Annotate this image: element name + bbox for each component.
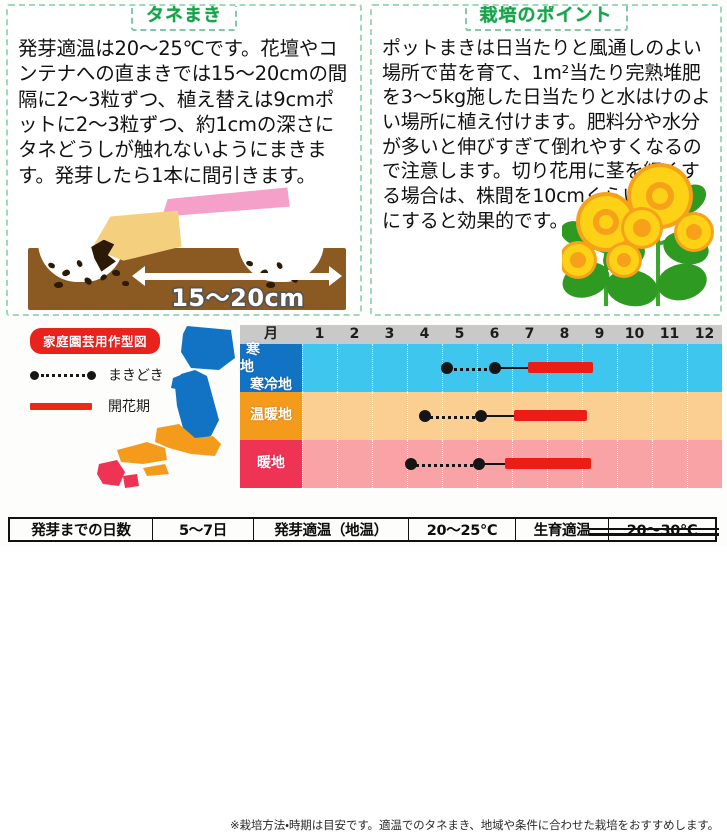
- bloom-period-bar: [505, 458, 591, 469]
- japan-map-illustration: [95, 324, 245, 490]
- spec-header: 発芽までの日数: [10, 519, 153, 540]
- panel-sowing-title: タネまき: [131, 4, 237, 31]
- calendar-header-m12: 12: [687, 325, 722, 344]
- panel-growing-title: 栽培のポイント: [465, 4, 628, 31]
- calendar-row: 温暖地: [240, 392, 722, 440]
- calendar-row-label-line: 温暖地: [250, 407, 292, 425]
- sowing-period-dotted-line: [411, 464, 479, 467]
- calendar-marker-layer: [302, 392, 722, 440]
- calendar-header-m6: 6: [477, 325, 512, 344]
- calendar-marker-layer: [302, 440, 722, 488]
- bloom-period-bar: [514, 410, 588, 421]
- panel-sowing-title-wrap: タネまき: [8, 4, 360, 31]
- panel-growing-tips: 栽培のポイント ポットまきは日当たりと風通しのよい場所で苗を育て、1m²当たり完…: [370, 4, 722, 316]
- cultivation-calendar-area: 家庭園芸用作型図 まきどき 開花期: [0, 322, 727, 492]
- calendar-header-m11: 11: [652, 325, 687, 344]
- spec-value: 5〜7日: [153, 519, 254, 540]
- panel-sowing: タネまき 発芽適温は20〜25℃です。花壇やコンテナへの直まきでは15〜20cm…: [6, 4, 362, 316]
- sowing-end-dot: [475, 410, 487, 422]
- decorative-rule: [589, 528, 719, 536]
- calendar-header-m4: 4: [407, 325, 442, 344]
- sowing-depth-illustration: 15〜20cm: [14, 178, 354, 310]
- calendar-header-m10: 10: [617, 325, 652, 344]
- sowing-period-dotted-line: [447, 368, 494, 371]
- spec-header: 発芽適温（地温）: [254, 519, 409, 540]
- calendar-row-label-line: 寒 地: [240, 342, 302, 377]
- calendar-row-label: 寒 地寒冷地: [240, 344, 302, 392]
- calendar-header-m1: 1: [302, 325, 337, 344]
- calendar-header-m7: 7: [512, 325, 547, 344]
- sowing-start-dot: [441, 362, 453, 374]
- calendar-header-m2: 2: [337, 325, 372, 344]
- spacing-label: 15〜20cm: [142, 278, 334, 313]
- calendar-header-m5: 5: [442, 325, 477, 344]
- sowing-period-dotted-line: [425, 416, 481, 419]
- calendar-marker-layer: [302, 344, 722, 392]
- sowing-start-dot: [405, 458, 417, 470]
- bloom-period-bar: [528, 362, 593, 373]
- calendar-body: 寒 地寒冷地温暖地暖地: [240, 344, 722, 488]
- calendar-table: 月 1 2 3 4 5 6 7 8 9 10 11 12 寒 地寒冷地温暖地暖地: [240, 325, 722, 488]
- sunflower-illustration: [562, 156, 718, 312]
- calendar-header-m3: 3: [372, 325, 407, 344]
- calendar-footnote: ※栽培方法・時期は目安です。適温でのタネまき、地域や条件に合わせた栽培をおすすめ…: [0, 814, 727, 836]
- sowing-end-dot: [473, 458, 485, 470]
- panel-sowing-text: 発芽適温は20〜25℃です。花壇やコンテナへの直まきでは15〜20cmの間隔に2…: [18, 36, 352, 188]
- info-panels: タネまき 発芽適温は20〜25℃です。花壇やコンテナへの直まきでは15〜20cm…: [0, 0, 727, 322]
- spec-value: 20〜25℃: [409, 519, 516, 540]
- sowing-start-dot: [419, 410, 431, 422]
- falling-seed: [122, 281, 129, 286]
- calendar-row: 寒 地寒冷地: [240, 344, 722, 392]
- calendar-row-label: 温暖地: [240, 392, 302, 440]
- calendar-header-m9: 9: [582, 325, 617, 344]
- panel-growing-title-wrap: 栽培のポイント: [372, 4, 720, 31]
- sowing-dotted-line-icon: [30, 371, 96, 380]
- calendar-row-label-line: 暖地: [257, 455, 285, 473]
- sowing-end-dot: [489, 362, 501, 374]
- calendar-header-m8: 8: [547, 325, 582, 344]
- calendar-row-label: 暖地: [240, 440, 302, 488]
- bloom-red-bar-icon: [30, 403, 96, 410]
- falling-seed: [112, 270, 120, 276]
- seed-packet-instructions: タネまき 発芽適温は20〜25℃です。花壇やコンテナへの直まきでは15〜20cm…: [0, 0, 727, 547]
- calendar-header-row: 月 1 2 3 4 5 6 7 8 9 10 11 12: [240, 325, 722, 344]
- calendar-row: 暖地: [240, 440, 722, 488]
